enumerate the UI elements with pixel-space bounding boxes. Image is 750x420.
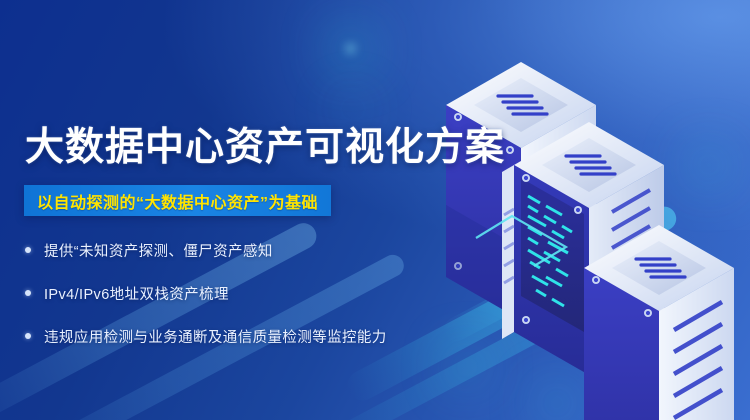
subtitle-text: 以自动探测的“大数据中心资产”为基础 [37, 189, 318, 213]
list-item: 违规应用检测与业务通断及通信质量检测等监控能力 [22, 321, 387, 351]
list-item: IPv4/IPv6地址双栈资产梳理 [22, 278, 387, 308]
subtitle-banner: 以自动探测的“大数据中心资产”为基础 [24, 185, 331, 216]
glow-dot-1 [332, 30, 370, 68]
glow-dot-1-core [347, 45, 354, 52]
list-item-label: 提供“未知资产探测、僵尸资产感知 [44, 240, 273, 261]
bullet-dot-icon [25, 247, 31, 253]
list-item-label: 违规应用检测与业务通断及通信质量检测等监控能力 [44, 326, 387, 347]
bullet-dot-icon [25, 290, 31, 296]
list-item-label: IPv4/IPv6地址双栈资产梳理 [44, 283, 229, 304]
feature-list: 提供“未知资产探测、僵尸资产感知 IPv4/IPv6地址双栈资产梳理 违规应用检… [22, 235, 387, 364]
bullet-dot-icon [25, 333, 31, 339]
page-title: 大数据中心资产可视化方案 [25, 122, 505, 174]
list-item: 提供“未知资产探测、僵尸资产感知 [22, 235, 387, 265]
glow-dot-2 [342, 98, 364, 120]
server-illustration [416, 0, 750, 420]
server-illustration-svg [416, 0, 750, 420]
banner-root: 大数据中心资产可视化方案 以自动探测的“大数据中心资产”为基础 提供“未知资产探… [0, 0, 750, 420]
